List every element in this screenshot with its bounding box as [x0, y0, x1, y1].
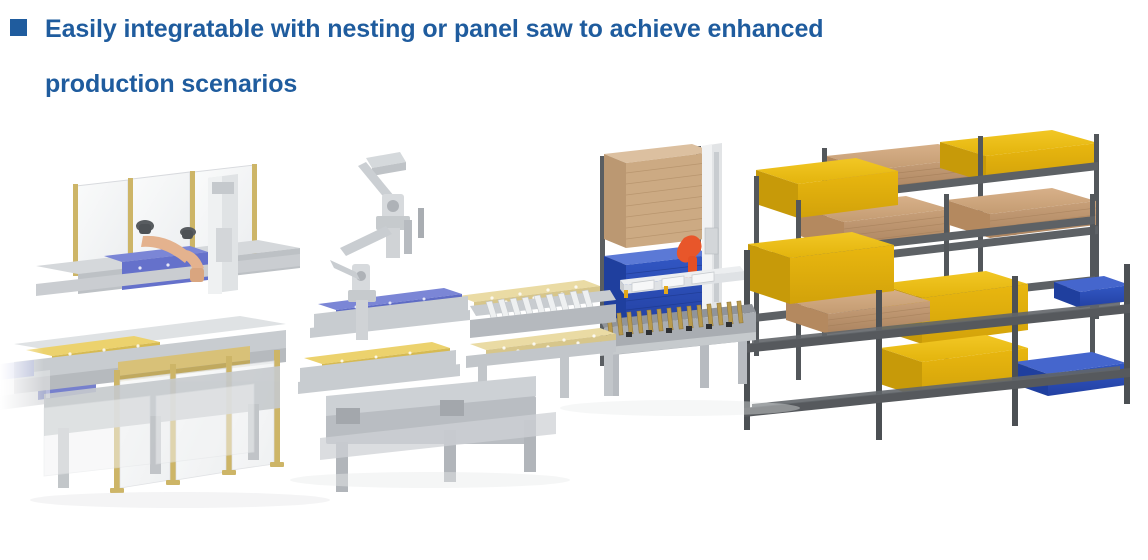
transfer-column [208, 174, 238, 294]
gantry-wood-stack [604, 144, 714, 248]
rack-front-row [744, 232, 1130, 440]
square-bullet-icon [10, 19, 27, 36]
cnc-overhead-arm [340, 152, 424, 258]
gantry-column [702, 143, 722, 311]
rack-stack-yellow [748, 232, 894, 304]
heading-block: Easily integratable with nesting or pane… [0, 0, 1148, 112]
infeed-conveyor-and-robot-cell [0, 164, 300, 493]
production-line-illustration [0, 108, 1148, 560]
headline-line-2: production scenarios [45, 72, 297, 97]
storage-racking-system [744, 130, 1130, 440]
gantry-loader-station [600, 143, 756, 396]
headline-line-1: Easily integratable with nesting or pane… [45, 17, 823, 42]
